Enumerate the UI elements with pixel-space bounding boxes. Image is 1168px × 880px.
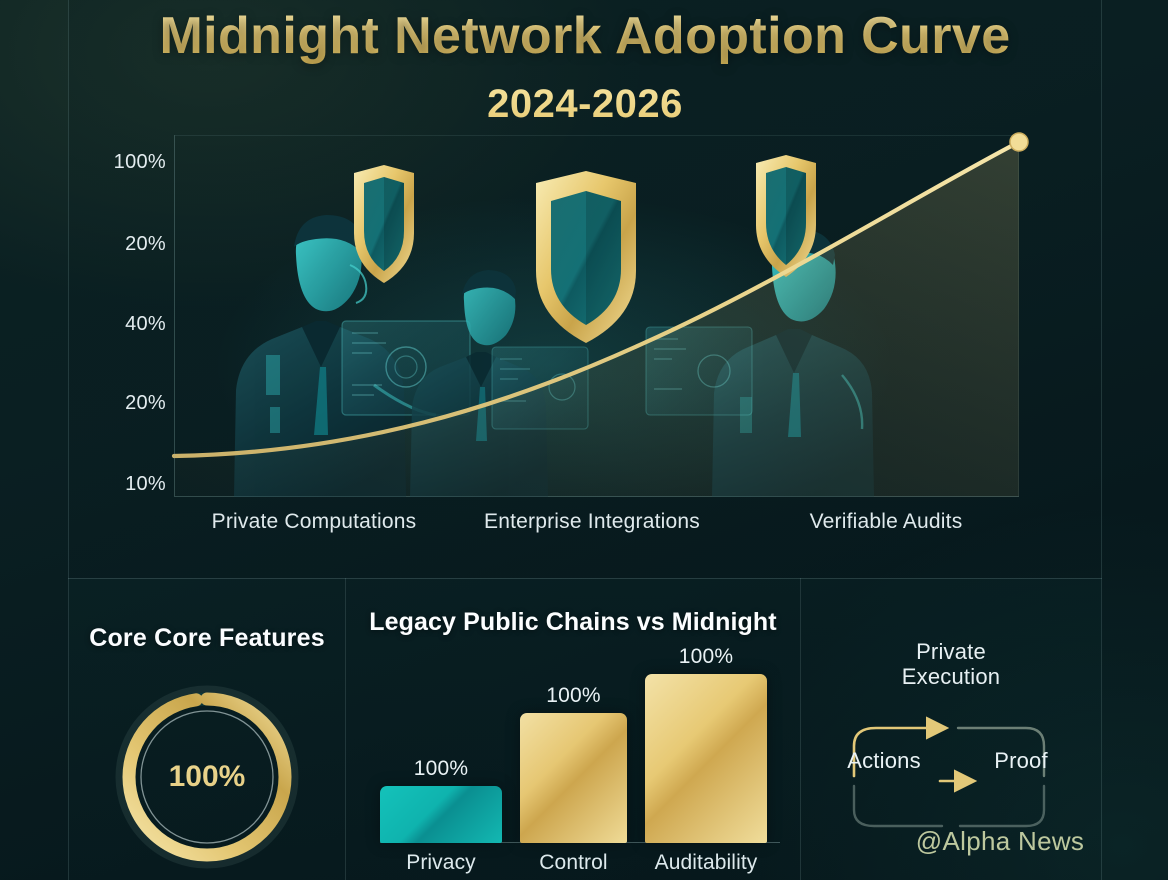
bar-group-control: 100% Control bbox=[520, 713, 627, 843]
y-tick-3: 20% bbox=[86, 392, 166, 415]
panel-divider-vertical-left bbox=[345, 578, 346, 880]
page-subtitle: 2024-2026 bbox=[68, 82, 1102, 127]
y-axis-labels: 100% 20% 40% 20% 10% bbox=[86, 135, 166, 515]
frame-border-right bbox=[1101, 0, 1102, 880]
panel-divider-horizontal bbox=[68, 578, 1102, 579]
x-tick-verifiable-audits: Verifiable Audits bbox=[736, 510, 1036, 534]
bar-chart: 100% Privacy 100% Control 100% Auditabil… bbox=[380, 650, 780, 880]
bar-value-auditability: 100% bbox=[636, 645, 776, 669]
bar-rect-privacy[interactable] bbox=[380, 786, 502, 843]
x-tick-private-computations: Private Computations bbox=[164, 510, 464, 534]
flow-node-actions[interactable]: Actions bbox=[836, 748, 932, 774]
flow-node-proof[interactable]: Proof bbox=[978, 748, 1064, 774]
flow-title-line-1: Private bbox=[801, 640, 1101, 665]
x-tick-enterprise-integrations: Enterprise Integrations bbox=[442, 510, 742, 534]
page-title: Midnight Network Adoption Curve bbox=[68, 8, 1102, 64]
flow-diagram-title: Private Execution bbox=[801, 640, 1101, 689]
infographic-canvas: Midnight Network Adoption Curve 2024-202… bbox=[0, 0, 1168, 880]
bar-label-auditability: Auditability bbox=[621, 851, 791, 875]
donut-center-value: 100% bbox=[112, 682, 302, 872]
y-tick-2: 40% bbox=[86, 313, 166, 336]
bar-value-privacy: 100% bbox=[371, 757, 511, 781]
watermark: @Alpha News bbox=[900, 826, 1100, 857]
plot-axes bbox=[174, 135, 1019, 497]
flow-title-line-2: Execution bbox=[801, 665, 1101, 690]
bar-rect-control[interactable] bbox=[520, 713, 627, 843]
y-tick-4: 10% bbox=[86, 473, 166, 496]
x-axis-labels: Private Computations Enterprise Integrat… bbox=[174, 510, 1019, 546]
donut-chart-title: Core Core Features bbox=[69, 624, 345, 653]
bar-group-privacy: 100% Privacy bbox=[380, 786, 502, 843]
bar-chart-title: Legacy Public Chains vs Midnight bbox=[346, 608, 800, 637]
core-features-donut: 100% bbox=[112, 682, 302, 872]
bar-rect-auditability[interactable] bbox=[645, 674, 767, 843]
adoption-curve-plot bbox=[174, 135, 1019, 497]
panel-divider-vertical-right bbox=[800, 578, 801, 880]
bar-value-control: 100% bbox=[504, 684, 644, 708]
y-tick-0: 100% bbox=[86, 151, 166, 174]
y-tick-1: 20% bbox=[86, 233, 166, 256]
frame-border-left bbox=[68, 0, 69, 880]
bar-group-auditability: 100% Auditability bbox=[645, 674, 767, 843]
